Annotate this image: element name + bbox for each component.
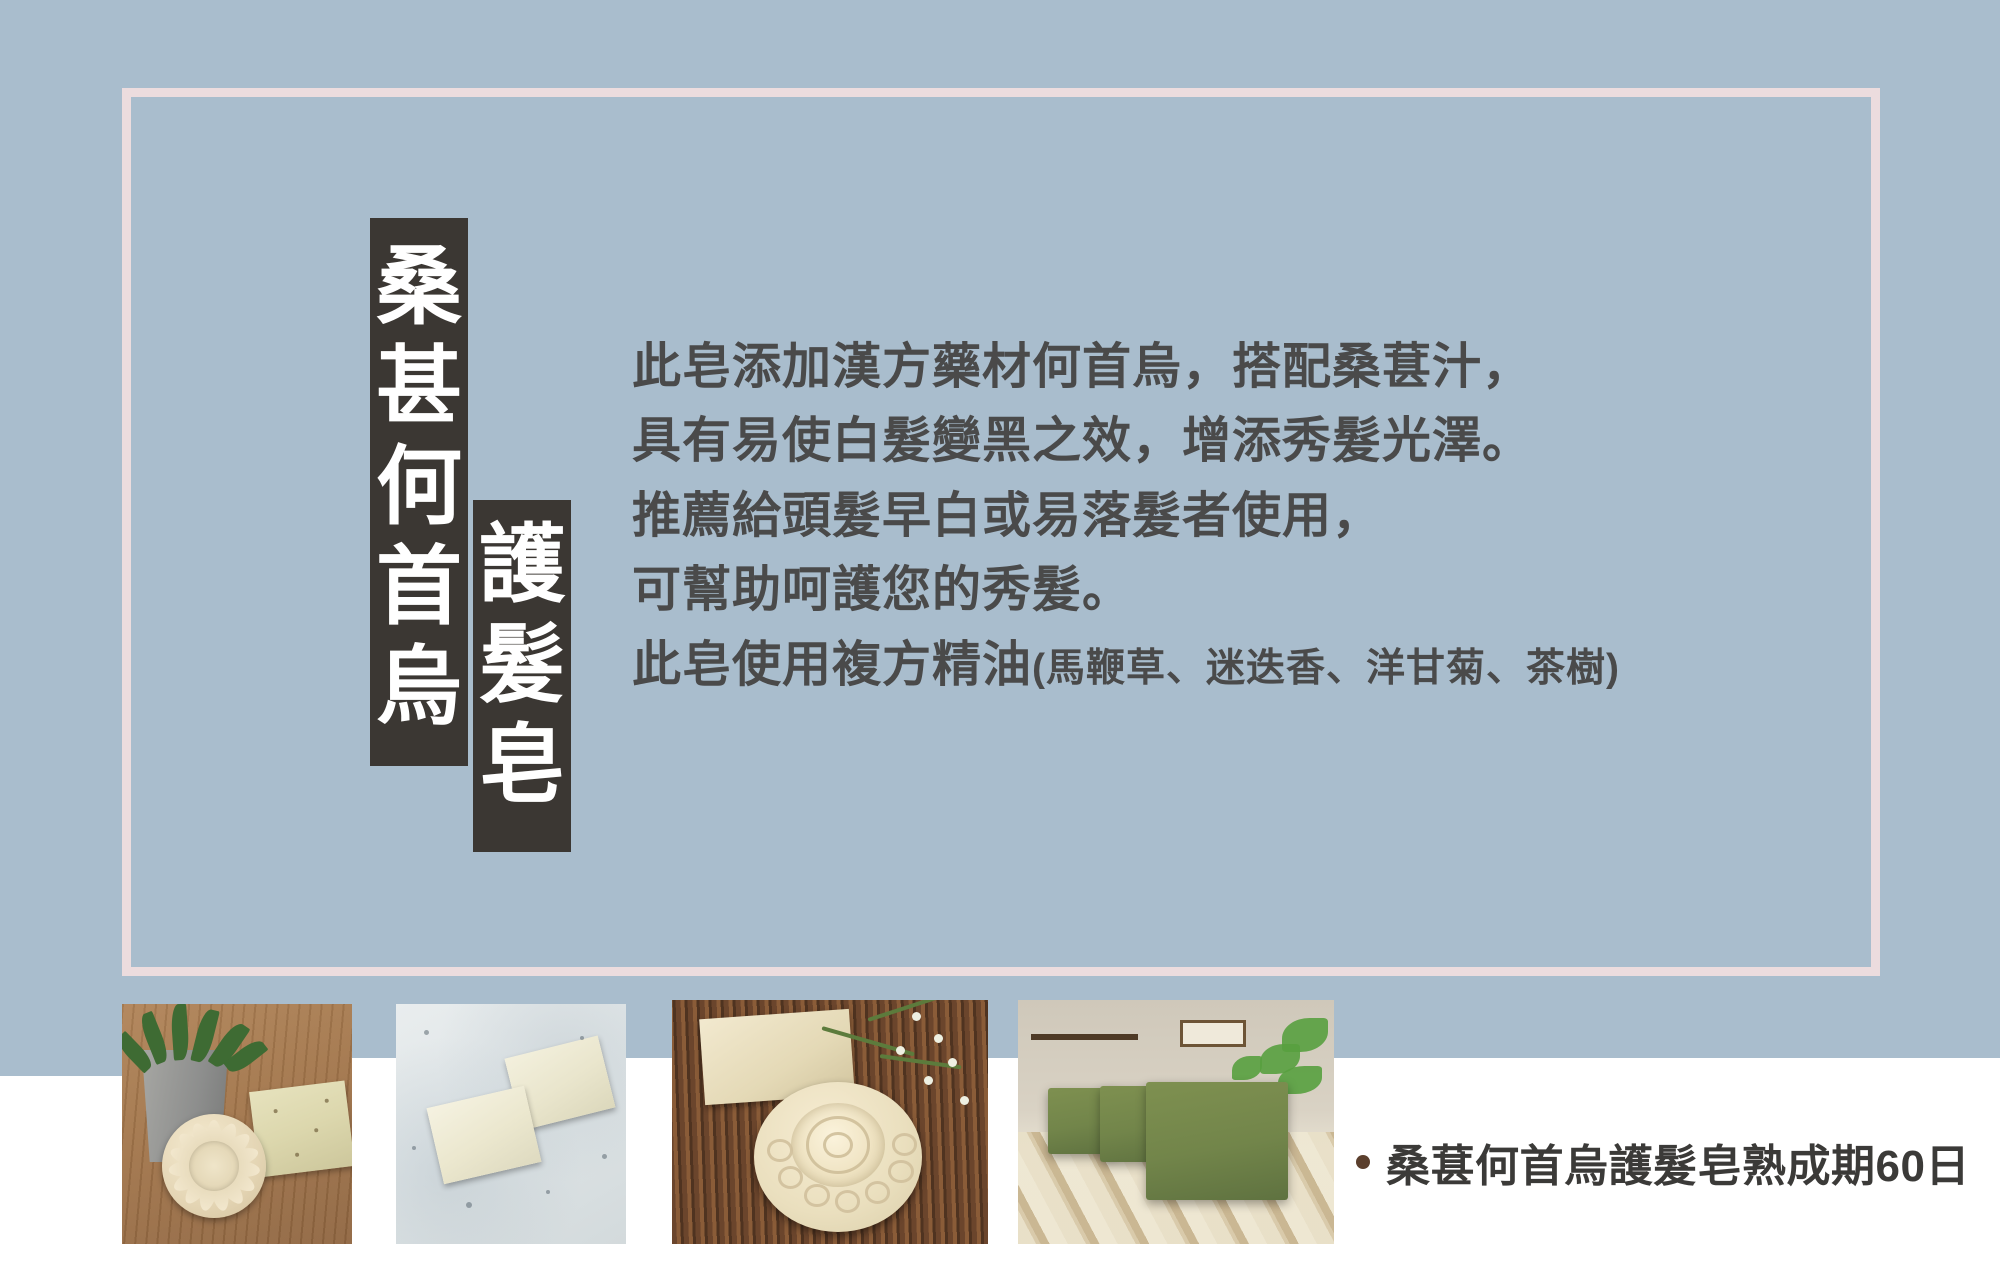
description-line-text: 可幫助呵護您的秀髮。 <box>632 563 1132 617</box>
description-line: 具有易使白髮變黑之效，增添秀髮光澤。 <box>632 404 1812 478</box>
description-line: 可幫助呵護您的秀髮。 <box>632 553 1812 627</box>
caption-text: 桑葚何首烏護髮皂熟成期60日 <box>1386 1130 1970 1194</box>
title-char: 桑 <box>376 244 462 330</box>
photo-soap-with-succulent <box>122 1004 352 1244</box>
bullet-dot-icon <box>1356 1155 1370 1169</box>
shop-shelf <box>1031 1034 1138 1040</box>
description-line-text: 具有易使白髮變黑之效，增添秀髮光澤。 <box>632 414 1532 468</box>
soap-bar-lower <box>427 1086 542 1184</box>
essential-oil-list: (馬鞭草、迷迭香、洋甘菊、茶樹) <box>1032 647 1620 690</box>
title-char: 護 <box>479 522 565 608</box>
description-line: 推薦給頭髮早白或易落髮者使用， <box>632 479 1812 553</box>
bamboo-mat-background <box>672 1000 988 1244</box>
herb-blossom <box>896 1046 905 1055</box>
product-description: 此皂添加漢方藥材何首烏，搭配桑葚汁， 具有易使白髮變黑之效，增添秀髮光澤。 推薦… <box>632 330 1812 702</box>
description-line-text: 此皂使用複方精油 <box>632 638 1032 692</box>
herb-blossom <box>912 1012 921 1021</box>
description-line: 此皂添加漢方藥材何首烏，搭配桑葚汁， <box>632 330 1812 404</box>
background-strip-left <box>0 1058 125 1076</box>
shop-wall-sign <box>1180 1020 1246 1047</box>
photo-green-soaps-shop <box>1018 1000 1334 1244</box>
photo-rose-mold-soap <box>672 1000 988 1244</box>
caption: 桑葚何首烏護髮皂熟成期60日 <box>1356 1130 1970 1194</box>
rose-center <box>791 1103 885 1187</box>
title-char: 髮 <box>479 622 565 708</box>
product-info-card: 桑 甚 何 首 烏 護 髮 皂 此皂添加漢方藥材何首烏，搭配桑葚汁， 具有易使白… <box>0 0 2000 1264</box>
photo-two-soap-bars <box>396 1004 626 1244</box>
herb-blossom <box>924 1076 933 1085</box>
flower-mold-soap <box>162 1114 266 1218</box>
herb-blossom <box>948 1058 957 1067</box>
title-char: 皂 <box>479 722 565 808</box>
title-char: 烏 <box>376 644 462 730</box>
stone-surface-background <box>396 1004 626 1244</box>
description-line-text: 此皂添加漢方藥材何首烏，搭配桑葚汁， <box>632 340 1532 394</box>
herb-blossom <box>960 1096 969 1105</box>
title-char: 何 <box>376 444 462 530</box>
herb-sprig <box>867 1000 939 1022</box>
wood-table-background <box>122 1004 352 1244</box>
vertical-title-column-secondary: 護 髮 皂 <box>473 500 571 852</box>
succulent-leaf <box>170 1004 190 1061</box>
soap-petals <box>162 1114 266 1218</box>
vertical-title-column-primary: 桑 甚 何 首 烏 <box>370 218 468 766</box>
shop-interior-background <box>1018 1000 1334 1244</box>
herb-blossom <box>934 1034 943 1043</box>
green-soap-bar-front <box>1146 1082 1288 1200</box>
title-char: 甚 <box>376 344 462 430</box>
description-line-essential-oils: 此皂使用複方精油(馬鞭草、迷迭香、洋甘菊、茶樹) <box>632 628 1812 702</box>
shop-plant <box>1232 1056 1262 1080</box>
rose-mold-soap <box>754 1082 922 1232</box>
title-char: 首 <box>376 544 462 630</box>
description-line-text: 推薦給頭髮早白或易落髮者使用， <box>632 489 1382 543</box>
